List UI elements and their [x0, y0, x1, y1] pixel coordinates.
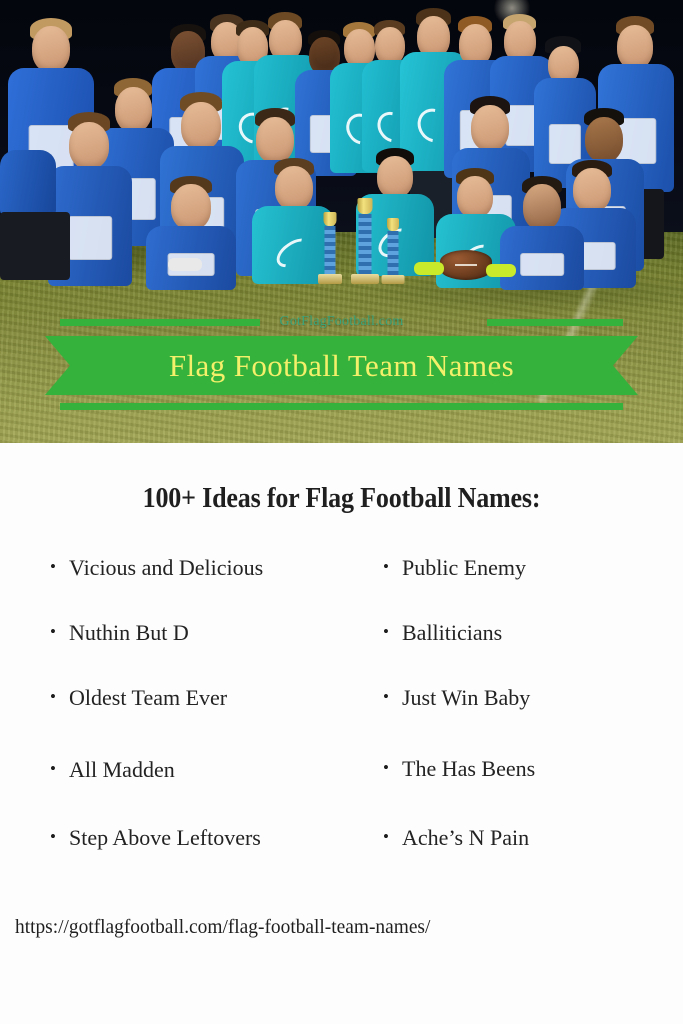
list-item: Balliticians — [381, 620, 681, 685]
trophy-base — [382, 275, 405, 284]
head — [181, 102, 221, 150]
list-item: Just Win Baby — [381, 685, 681, 750]
head — [256, 117, 294, 163]
list-item: The Has Beens — [381, 756, 681, 821]
trophy-cup — [358, 198, 373, 214]
jersey-logo — [272, 239, 315, 267]
left-column: Vicious and Delicious Nuthin But D Oldes… — [48, 555, 378, 890]
head — [457, 176, 493, 218]
trophy-base — [318, 274, 342, 284]
head — [471, 105, 509, 151]
head — [617, 25, 653, 69]
head — [585, 117, 623, 162]
cleat-left — [414, 262, 444, 275]
right-column: Public Enemy Balliticians Just Win Baby … — [381, 555, 681, 890]
head — [32, 26, 70, 72]
head — [377, 156, 413, 198]
list-item: Oldest Team Ever — [48, 685, 378, 750]
title-ribbon: Flag Football Team Names — [45, 336, 638, 395]
trophy-column — [359, 214, 372, 274]
player-front-coach — [0, 150, 70, 280]
trophy-column — [388, 231, 399, 275]
list-item: Vicious and Delicious — [48, 555, 378, 620]
list-item: All Madden — [48, 757, 378, 822]
list-item: Ache’s N Pain — [381, 825, 681, 890]
jersey-logo — [68, 216, 112, 259]
page-heading: 100+ Ideas for Flag Football Names: — [24, 483, 659, 515]
list-item: Public Enemy — [381, 555, 681, 620]
player-front-7 — [146, 176, 236, 288]
trophy-cup — [324, 212, 337, 226]
trophy-center — [348, 198, 382, 284]
head — [69, 122, 109, 169]
football-on-ground — [440, 250, 492, 280]
source-url[interactable]: https://gotflagfootball.com/flag-footbal… — [15, 916, 430, 939]
pinterest-pin-graphic: GotFlagFootball.com Flag Football Team N… — [0, 0, 683, 1024]
jersey — [0, 150, 56, 216]
content-panel: 100+ Ideas for Flag Football Names: Vici… — [0, 443, 683, 1024]
banner-rule-bottom — [60, 403, 623, 410]
legs — [0, 212, 70, 280]
jersey-logo — [520, 253, 564, 276]
trophy-cup — [387, 218, 399, 231]
trophy-base — [351, 274, 379, 284]
trophy-right — [378, 218, 408, 284]
trophy-left — [315, 212, 345, 284]
head — [171, 184, 211, 230]
head — [275, 166, 313, 210]
head — [523, 184, 561, 230]
left-column-list: Vicious and Delicious Nuthin But D Oldes… — [48, 555, 378, 890]
right-column-list: Public Enemy Balliticians Just Win Baby … — [381, 555, 681, 890]
trophy-column — [325, 226, 336, 274]
cleat-white — [168, 258, 202, 271]
ribbon-title: Flag Football Team Names — [169, 350, 514, 381]
list-item: Step Above Leftovers — [48, 825, 378, 890]
jersey — [500, 226, 584, 290]
watermark: GotFlagFootball.com — [0, 313, 683, 331]
cleat-right — [486, 264, 516, 277]
list-item: Nuthin But D — [48, 620, 378, 685]
